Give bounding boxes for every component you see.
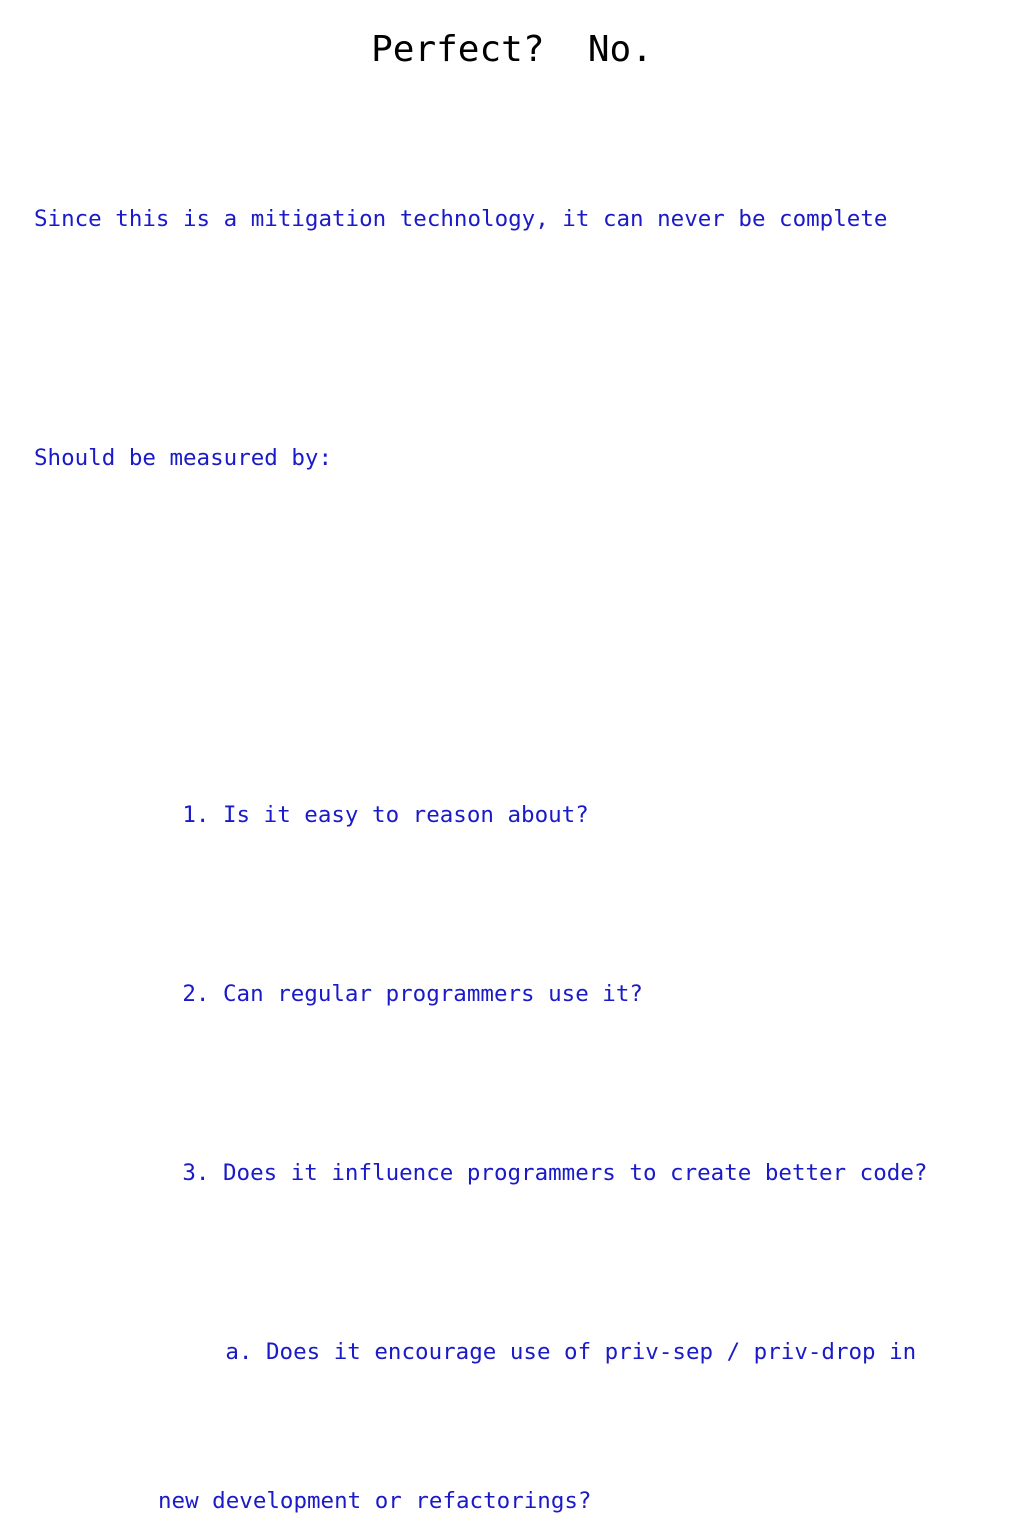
intro-line-1: Since this is a mitigation technology, i…	[34, 205, 1014, 235]
spacer-1	[34, 325, 1014, 355]
list-item-space	[209, 1160, 223, 1186]
sub-list-item-space	[252, 1339, 266, 1365]
slide-body: Since this is a mitigation technology, i…	[34, 116, 1014, 1536]
list-item-label: Is it easy to reason about?	[223, 802, 589, 828]
spacer-2	[34, 563, 1014, 593]
intro-line-2: Should be measured by:	[34, 444, 1014, 474]
list-item-label: Does it influence programmers to create …	[223, 1160, 927, 1186]
page-title: Perfect? No.	[0, 28, 1024, 72]
sub-list-item-continuation: new development or refactorings?	[34, 1487, 1014, 1517]
list-item-marker: 2.	[182, 981, 209, 1007]
criteria-list: 1. Is it easy to reason about? 2. Can re…	[34, 682, 1014, 1536]
list-item-space	[209, 802, 223, 828]
list-item-label: Can regular programmers use it?	[223, 981, 643, 1007]
presentation-slide: Perfect? No. Since this is a mitigation …	[0, 0, 1024, 768]
list-item: 1. Is it easy to reason about?	[34, 772, 1014, 861]
list-item-space	[209, 981, 223, 1007]
sub-list-item: a. Does it encourage use of priv-sep / p…	[34, 1308, 1014, 1397]
list-item-marker: 1.	[182, 802, 209, 828]
list-item: 2. Can regular programmers use it?	[34, 950, 1014, 1039]
sub-list-item-marker: a.	[225, 1339, 252, 1365]
list-item-marker: 3.	[182, 1160, 209, 1186]
list-item: 3. Does it influence programmers to crea…	[34, 1129, 1014, 1218]
sub-list-item-label: Does it encourage use of priv-sep / priv…	[266, 1339, 916, 1365]
